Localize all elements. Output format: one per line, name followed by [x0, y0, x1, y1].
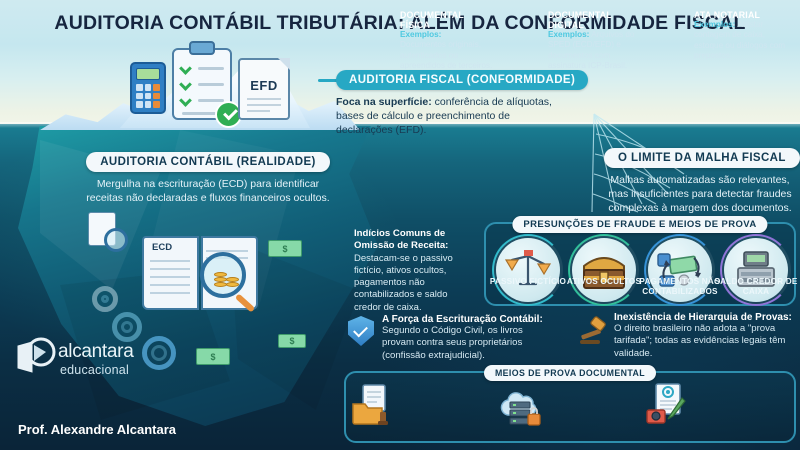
calculator-icon	[130, 62, 166, 114]
brand-subtitle: educacional	[60, 363, 129, 377]
info-row-gavel: Inexistência de Hierarquia de Provas: O …	[614, 312, 796, 360]
surface-audit-block: AUDITORIA FISCAL (CONFORMIDADE) Foca na …	[336, 70, 586, 138]
deep-audit-pill: AUDITORIA CONTÁBIL (REALIDADE)	[86, 152, 330, 172]
surface-audit-pill: AUDITORIA FISCAL (CONFORMIDADE)	[336, 70, 588, 90]
fraud-panel-title-wrap: PRESUNÇÕES DE FRAUDE E MEIOS DE PROVA	[512, 214, 767, 233]
cloud-server-lock-icon	[498, 382, 544, 428]
infographic-canvas: AUDITORIA CONTÁBIL TRIBUTÁRIA: ALÉM DA C…	[0, 0, 800, 450]
evidence-column-1: DOCUMENTAL DIGITAL Exemplos: Arquivos do…	[548, 10, 640, 71]
indicios-block: Indícios Comuns de Omissão de Receita: D…	[354, 228, 474, 314]
fraud-item-0[interactable]	[496, 238, 560, 302]
fraud-panel-title: PRESUNÇÕES DE FRAUDE E MEIOS DE PROVA	[512, 216, 767, 233]
efd-document-icon: EFD	[238, 58, 290, 120]
magnifier-icon	[104, 228, 128, 252]
ecd-book-label: ECD	[152, 242, 172, 253]
banknote-icon	[196, 348, 230, 365]
gavel-icon	[578, 316, 612, 346]
folder-documents-stamp-icon	[350, 382, 396, 428]
author-name: Prof. Alexandre Alcantara	[18, 422, 176, 437]
net-limit-block: O LIMITE DA MALHA FISCAL Malhas automati…	[604, 148, 796, 216]
evidence-column-1-examples-label: Exemplos:	[548, 30, 589, 39]
fraud-label-0: PASSIVO FICTÍCIO	[484, 277, 572, 287]
evidence-column-0-examples-label: Exemplos:	[400, 30, 441, 39]
info-row-shield-heading: A Força da Escrituração Contábil:	[382, 314, 557, 325]
gear-icon	[92, 286, 118, 312]
gear-icon	[142, 336, 176, 370]
brand-name: alcantara	[58, 341, 133, 363]
fraud-label-3: SALDO CREDOR DE CAIXA	[712, 277, 800, 296]
calculator-screen	[136, 68, 160, 80]
deep-audit-body: Mergulha na escrituração (ECD) para iden…	[86, 178, 329, 204]
fraud-label-1: ATIVOS OCULTOS	[560, 277, 648, 287]
info-row-gavel-body: O direito brasileiro não adota a "prova …	[614, 323, 796, 360]
banknote-icon	[278, 334, 306, 348]
evidence-column-0-heading: DOCUMENTAL FÍSICA	[400, 10, 494, 30]
treasure-chest-icon	[572, 238, 636, 302]
efd-label: EFD	[240, 78, 288, 93]
net-limit-pill: O LIMITE DA MALHA FISCAL	[604, 148, 800, 168]
info-row-gavel-heading: Inexistência de Hierarquia de Provas:	[614, 312, 796, 323]
fraud-item-1[interactable]	[572, 238, 636, 302]
info-row-shield-body: Segundo o Código Civil, os livros provam…	[382, 325, 557, 362]
evidence-column-1-heading: DOCUMENTAL DIGITAL	[548, 10, 640, 30]
banknote-icon	[268, 240, 302, 257]
evidence-column-2-examples-label: Exemplos:	[694, 20, 735, 29]
net-limit-body: Malhas automatizadas são relevantes, mas…	[608, 174, 791, 214]
calculator-keys	[136, 84, 160, 108]
evidence-column-0-body: Documentos originais, autenticados ou ap…	[400, 40, 494, 71]
scales-icon	[496, 238, 560, 302]
indicios-heading: Indícios Comuns de Omissão de Receita:	[354, 228, 474, 252]
gear-icon	[112, 312, 142, 342]
evidence-panel-title: MEIOS DE PROVA DOCUMENTAL	[484, 365, 656, 381]
evidence-column-2: ATA NOTARIAL Exemplos: Atestar contagem …	[694, 10, 790, 61]
evidence-column-0: DOCUMENTAL FÍSICA Exemplos: Documentos o…	[400, 10, 494, 71]
evidence-column-2-heading: ATA NOTARIAL	[694, 10, 790, 20]
clipboard-checklist-icon	[172, 48, 232, 120]
evidence-panel-title-wrap: MEIOS DE PROVA DOCUMENTAL	[344, 363, 796, 381]
alcantara-book-logo-icon	[16, 336, 58, 378]
evidence-panel	[344, 371, 796, 443]
indicios-body: Destacam-se o passivo fictício, ativos o…	[354, 253, 474, 314]
fraud-label-2: PAGAMENTOS NÃO CONTABILIZADOS	[636, 277, 724, 296]
magnifier-coins-icon	[200, 252, 246, 298]
deep-audit-block: AUDITORIA CONTÁBIL (REALIDADE) Mergulha …	[78, 152, 338, 206]
clipboard-clip	[189, 41, 215, 55]
info-row-shield: A Força da Escrituração Contábil: Segund…	[382, 314, 557, 362]
surface-audit-lead: Foca na superfície:	[336, 96, 432, 108]
notary-camera-pen-icon	[644, 382, 690, 428]
